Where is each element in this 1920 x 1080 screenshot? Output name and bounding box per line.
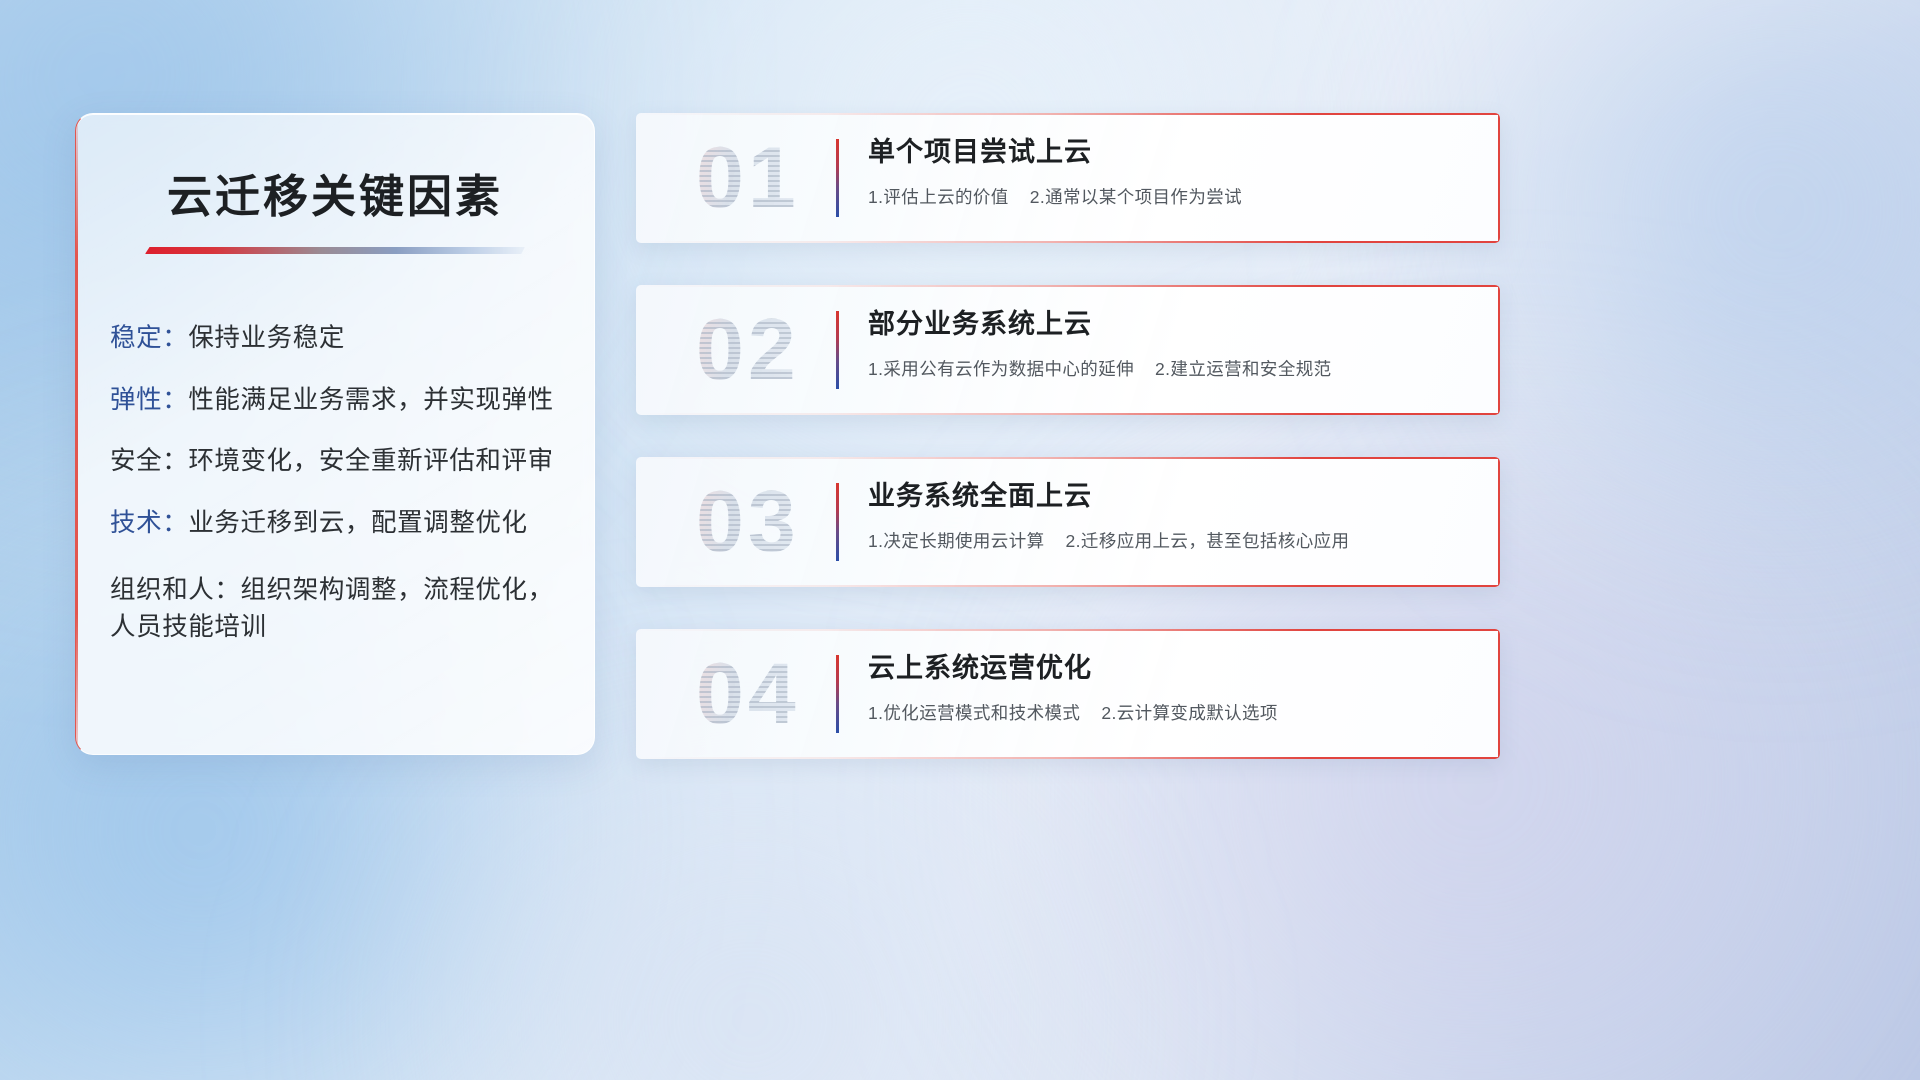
step-card-body: 业务系统全面上云1.决定长期使用云计算 2.迁移应用上云，甚至包括核心应用 (868, 481, 1472, 553)
step-number: 04 (696, 651, 800, 737)
factor-text: 性能满足业务需求，并实现弹性 (188, 386, 553, 414)
step-card-body: 云上系统运营优化1.优化运营模式和技术模式 2.云计算变成默认选项 (868, 653, 1472, 725)
card-right-accent-line (1498, 457, 1500, 587)
card-divider-bar (836, 483, 839, 561)
card-bottom-accent-line (636, 585, 1500, 587)
step-description: 1.采用公有云作为数据中心的延伸 2.建立运营和安全规范 (868, 356, 1472, 381)
factor-label: 稳定： (110, 324, 188, 352)
card-top-accent-line (636, 629, 1500, 631)
card-right-accent-line (1498, 629, 1500, 759)
list-item: 组织和人：组织架构调整，流程优化，人员技能培训 (110, 572, 568, 646)
migration-steps-list: 01单个项目尝试上云1.评估上云的价值 2.通常以某个项目作为尝试02部分业务系… (636, 113, 1500, 759)
list-item: 弹性：性能满足业务需求，并实现弹性 (110, 388, 568, 414)
step-card[interactable]: 02部分业务系统上云1.采用公有云作为数据中心的延伸 2.建立运营和安全规范 (636, 285, 1500, 415)
card-top-accent-line (636, 457, 1500, 459)
step-title: 单个项目尝试上云 (868, 137, 1472, 168)
step-description: 1.优化运营模式和技术模式 2.云计算变成默认选项 (868, 700, 1472, 725)
list-item: 安全：环境变化，安全重新评估和评审 (110, 449, 568, 475)
step-card-body: 部分业务系统上云1.采用公有云作为数据中心的延伸 2.建立运营和安全规范 (868, 309, 1472, 381)
step-description: 1.决定长期使用云计算 2.迁移应用上云，甚至包括核心应用 (868, 528, 1472, 553)
factor-text: 业务迁移到云，配置调整优化 (188, 509, 527, 537)
page-title: 云迁移关键因素 (76, 160, 594, 225)
factor-text: 保持业务稳定 (188, 324, 345, 352)
step-title: 云上系统运营优化 (868, 653, 1472, 684)
step-title: 业务系统全面上云 (868, 481, 1472, 512)
card-bottom-accent-line (636, 241, 1500, 243)
card-right-accent-line (1498, 113, 1500, 243)
step-title: 部分业务系统上云 (868, 309, 1472, 340)
step-number: 03 (696, 479, 800, 565)
card-bottom-accent-line (636, 757, 1500, 759)
factor-label: 弹性： (110, 386, 188, 414)
step-card-body: 单个项目尝试上云1.评估上云的价值 2.通常以某个项目作为尝试 (868, 137, 1472, 209)
card-divider-bar (836, 311, 839, 389)
slide-stage: 云迁移关键因素 稳定：保持业务稳定弹性：性能满足业务需求，并实现弹性安全：环境变… (0, 0, 1920, 1080)
card-top-accent-line (636, 285, 1500, 287)
factor-text: 环境变化，安全重新评估和评审 (188, 447, 553, 475)
factor-label: 技术： (110, 509, 188, 537)
step-card[interactable]: 04云上系统运营优化1.优化运营模式和技术模式 2.云计算变成默认选项 (636, 629, 1500, 759)
factor-label: 组织和人： (110, 576, 241, 604)
title-underline-rule (145, 247, 525, 254)
factor-label: 安全： (110, 447, 188, 475)
key-factors-list: 稳定：保持业务稳定弹性：性能满足业务需求，并实现弹性安全：环境变化，安全重新评估… (76, 326, 594, 646)
key-factors-panel: 云迁移关键因素 稳定：保持业务稳定弹性：性能满足业务需求，并实现弹性安全：环境变… (75, 113, 595, 755)
list-item: 稳定：保持业务稳定 (110, 326, 568, 352)
card-bottom-accent-line (636, 413, 1500, 415)
list-item: 技术：业务迁移到云，配置调整优化 (110, 511, 568, 537)
card-top-accent-line (636, 113, 1500, 115)
step-number: 01 (696, 135, 800, 221)
step-card[interactable]: 03业务系统全面上云1.决定长期使用云计算 2.迁移应用上云，甚至包括核心应用 (636, 457, 1500, 587)
card-right-accent-line (1498, 285, 1500, 415)
step-number: 02 (696, 307, 800, 393)
card-divider-bar (836, 655, 839, 733)
card-divider-bar (836, 139, 839, 217)
step-card[interactable]: 01单个项目尝试上云1.评估上云的价值 2.通常以某个项目作为尝试 (636, 113, 1500, 243)
step-description: 1.评估上云的价值 2.通常以某个项目作为尝试 (868, 184, 1472, 209)
